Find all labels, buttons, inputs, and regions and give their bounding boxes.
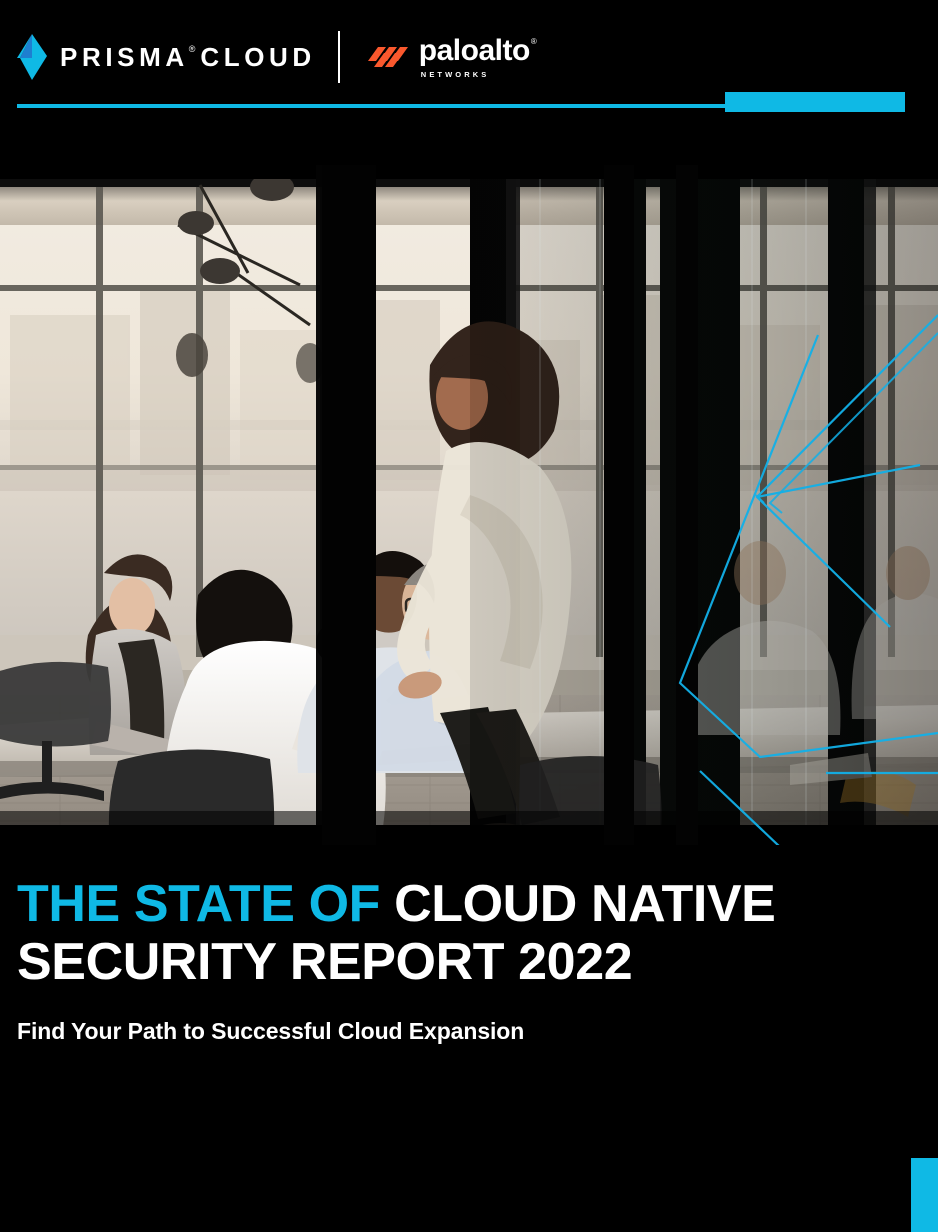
prisma-diamond-icon xyxy=(17,34,47,80)
paloalto-word: paloalto xyxy=(419,36,530,66)
page-title-line-2: SECURITY REPORT 2022 xyxy=(17,933,917,991)
cloud-word: CLOUD xyxy=(200,44,315,70)
logo-divider xyxy=(338,31,340,83)
paloalto-parallelograms-icon xyxy=(366,42,408,72)
hero-image xyxy=(0,165,938,845)
paloalto-wordmark: paloalto® xyxy=(419,36,535,66)
corner-accent-block xyxy=(911,1158,938,1232)
title-highlight: THE STATE OF xyxy=(17,875,380,933)
registered-mark-icon: ® xyxy=(531,38,536,46)
rule-accent-block xyxy=(725,92,905,112)
hero-image-artwork xyxy=(0,165,938,845)
logo-row: PRISMA®CLOUD paloalto® NETWO xyxy=(17,32,535,82)
report-cover-page: PRISMA®CLOUD paloalto® NETWO xyxy=(0,0,938,1232)
paloalto-text-group: paloalto® NETWORKS xyxy=(419,36,535,79)
prisma-cloud-wordmark: PRISMA®CLOUD xyxy=(60,44,316,70)
page-header: PRISMA®CLOUD paloalto® NETWO xyxy=(0,0,938,165)
title-rest-line-1: CLOUD NATIVE xyxy=(380,875,775,933)
title-block: THE STATE OF CLOUD NATIVE SECURITY REPOR… xyxy=(17,875,917,1045)
prisma-cloud-logo: PRISMA®CLOUD xyxy=(17,34,316,80)
page-title-line-1: THE STATE OF CLOUD NATIVE xyxy=(17,875,917,933)
registered-mark-icon: ® xyxy=(189,45,196,54)
networks-subtext: NETWORKS xyxy=(421,70,535,79)
page-subtitle: Find Your Path to Successful Cloud Expan… xyxy=(17,1018,917,1045)
prisma-word: PRISMA xyxy=(60,44,189,70)
paloalto-networks-logo: paloalto® NETWORKS xyxy=(366,34,535,80)
